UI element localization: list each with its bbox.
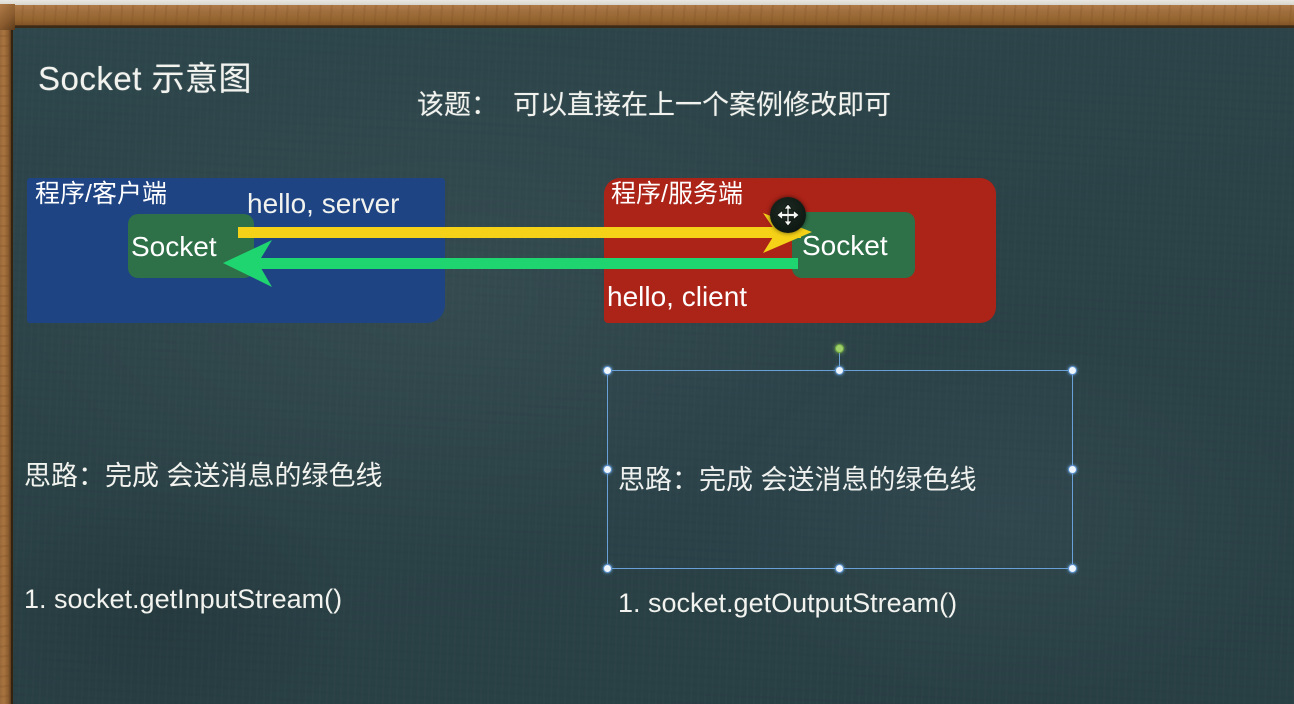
client-program-label: 程序/客户端	[35, 174, 167, 210]
resize-handle-top-center[interactable]	[835, 366, 844, 375]
notes-left-heading: 思路：完成 会送消息的绿色线	[24, 456, 383, 497]
notes-right-step-1: 1. socket.getOutputStream()	[618, 583, 977, 624]
resize-handle-middle-left[interactable]	[603, 465, 612, 474]
client-socket-label: Socket	[131, 231, 217, 263]
resize-handle-bottom-right[interactable]	[1068, 564, 1077, 573]
resize-handle-middle-right[interactable]	[1068, 465, 1077, 474]
server-socket-label: Socket	[802, 230, 888, 262]
notes-left-block: 思路：完成 会送消息的绿色线 1. socket.getInputStream(…	[24, 374, 383, 704]
notes-left-step-1: 1. socket.getInputStream()	[24, 579, 383, 620]
resize-handle-top-right[interactable]	[1068, 366, 1077, 375]
slide-title: Socket 示意图	[38, 52, 252, 100]
message-to-server-label: hello, server	[247, 188, 400, 220]
move-cursor-icon	[770, 197, 806, 233]
server-program-label: 程序/服务端	[611, 174, 743, 210]
message-to-client-label: hello, client	[607, 281, 747, 313]
resize-handle-top-left[interactable]	[603, 366, 612, 375]
frame-corner	[0, 4, 15, 30]
frame-left-wood	[0, 5, 13, 704]
resize-handle-bottom-left[interactable]	[603, 564, 612, 573]
selection-bounding-box[interactable]	[607, 370, 1073, 569]
rotate-handle[interactable]	[835, 344, 844, 353]
slide-subtitle: 该题： 可以直接在上一个案例修改即可	[417, 83, 891, 122]
resize-handle-bottom-center[interactable]	[835, 564, 844, 573]
frame-top-wood	[0, 5, 1294, 28]
chalkboard-slide: Socket 示意图 该题： 可以直接在上一个案例修改即可 程序/客户端 Soc…	[0, 0, 1294, 704]
